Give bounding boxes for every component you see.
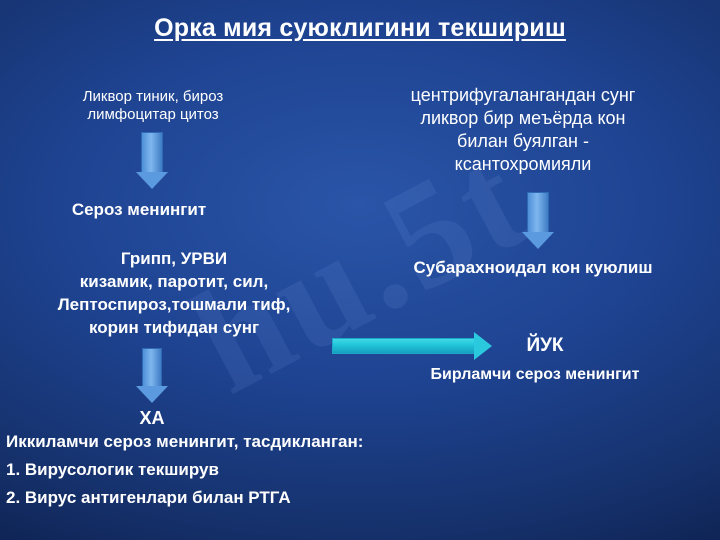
arrow-down-icon-3 <box>104 348 200 410</box>
yuk-label: ЙУК <box>500 335 590 357</box>
arrow-down-icon-2 <box>490 192 586 254</box>
xa-label: ХА <box>104 408 200 429</box>
centrifuge-note-text: центрифугалангандан сунг ликвор бир меъё… <box>358 84 688 176</box>
slide-canvas: hu.5t Орка мия суюклигини текшириш Ликво… <box>0 0 720 540</box>
seroz-meningit-label: Сероз менингит <box>14 200 264 220</box>
footer-line-1: Иккиламчи сероз менингит, тасдикланган: <box>6 432 506 452</box>
footer-line-2: 1. Вирусологик текширув <box>6 460 506 480</box>
likvor-note-text: Ликвор тиник, бироз лимфоцитар цитоз <box>28 88 278 123</box>
subarachnoid-label: Субарахноидал кон куюлиш <box>358 258 708 278</box>
footer-line-3: 2. Вирус антигенлари билан РТГА <box>6 488 566 508</box>
arrow-down-icon-1 <box>104 132 200 194</box>
page-title: Орка мия суюклигини текшириш <box>0 14 720 43</box>
arrow-right-icon <box>332 328 492 364</box>
birlamchi-label: Бирламчи сероз менингит <box>360 366 710 385</box>
causes-text: Грипп, УРВИ кизамик, паротит, сил, Лепто… <box>4 248 344 340</box>
